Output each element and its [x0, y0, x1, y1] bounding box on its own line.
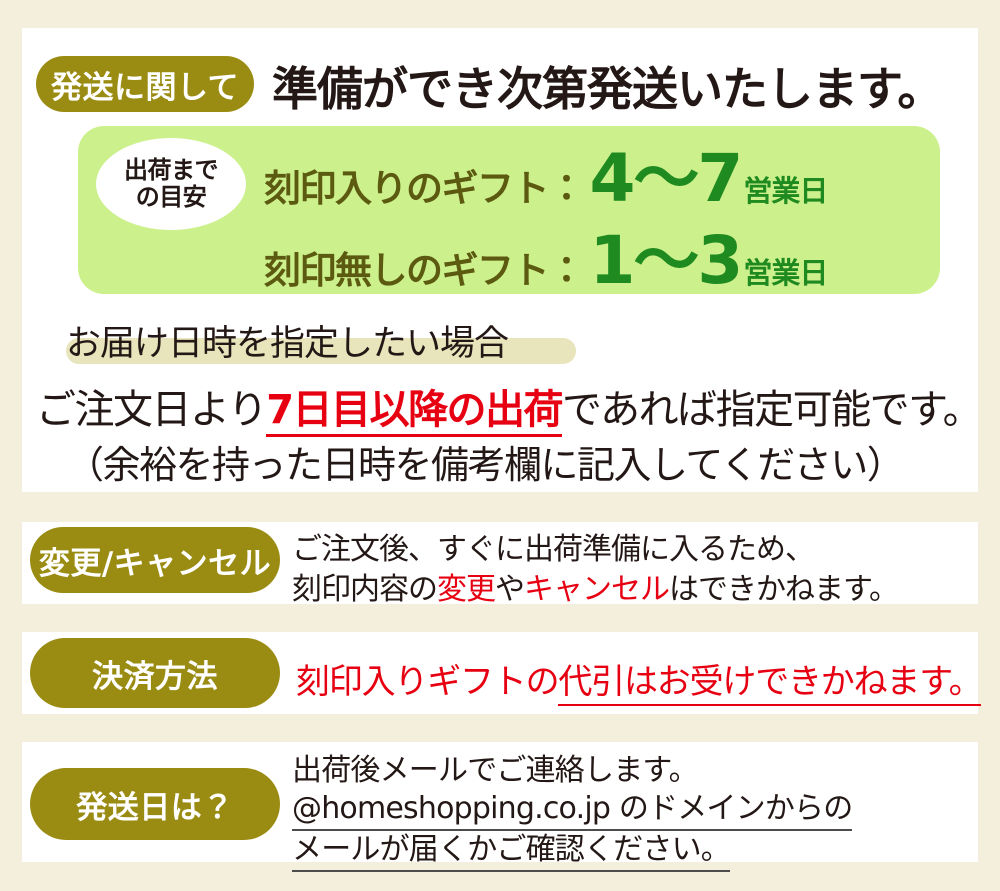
delivery-note-after: であれば指定可能です。: [562, 387, 981, 433]
estimate-label-engraved: 刻印入りのギフト：: [264, 158, 584, 212]
payment-text-underlined: 代引はお受けできかねます。: [558, 662, 981, 706]
badge-payment-method: 決済方法: [30, 638, 280, 708]
change-cancel-word-cancel: キャンセル: [524, 572, 669, 607]
ship-date-line2: @homeshopping.co.jp のドメインからの: [292, 790, 852, 831]
estimate-days-engraved: 4〜7: [590, 146, 742, 212]
shipping-info-graphic: 発送に関して 準備ができ次第発送いたします。 出荷まで の目安 刻印入りのギフト…: [0, 0, 1000, 891]
headline-shipping: 準備ができ次第発送いたします。: [272, 53, 942, 119]
change-cancel-line2-part1: 刻印内容の: [292, 572, 437, 607]
change-cancel-word-change: 変更: [437, 572, 495, 607]
badge-shipping-about: 発送に関して: [36, 56, 254, 112]
ship-date-line1: 出荷後メールでご連絡します。: [292, 752, 852, 790]
estimate-unit-plain: 営業日: [743, 250, 827, 292]
delivery-note-highlight: 7日目以降の出荷: [266, 387, 562, 437]
estimate-oval-badge: 出荷まで の目安: [96, 138, 246, 230]
estimate-oval-line2: の目安: [136, 184, 207, 211]
ship-date-line3-wrap: メールが届くかご確認ください。: [292, 831, 852, 872]
change-cancel-text: ご注文後、すぐに出荷準備に入るため、 刻印内容の変更やキャンセルはできかねます。: [292, 530, 898, 610]
ship-date-line2-wrap: @homeshopping.co.jp のドメインからの: [292, 790, 852, 831]
estimate-unit-engraved: 営業日: [743, 168, 827, 210]
delivery-note-line1: ご注文日より7日目以降の出荷であれば指定可能です。: [36, 377, 981, 435]
change-cancel-line2: 刻印内容の変更やキャンセルはできかねます。: [292, 570, 898, 610]
payment-method-text: 刻印入りギフトの代引はお受けできかねます。: [296, 654, 981, 703]
delivery-heading-text: お届け日時を指定したい場合: [66, 315, 508, 366]
change-cancel-line2-part2: や: [495, 572, 524, 607]
delivery-note-before: ご注文日より: [36, 387, 266, 433]
estimate-row-plain: 刻印無しのギフト： 1〜3 営業日: [264, 228, 827, 294]
estimate-row-engraved: 刻印入りのギフト： 4〜7 営業日: [264, 146, 827, 212]
badge-ship-date: 発送日は？: [30, 768, 280, 840]
badge-change-cancel: 変更/キャンセル: [30, 527, 280, 593]
estimate-days-plain: 1〜3: [590, 228, 742, 294]
ship-date-text: 出荷後メールでご連絡します。 @homeshopping.co.jp のドメイン…: [292, 752, 852, 872]
delivery-note-line2: （余裕を持った日時を備考欄に記入してください）: [66, 434, 903, 489]
estimate-label-plain: 刻印無しのギフト：: [264, 240, 584, 294]
payment-text-before: 刻印入りギフトの: [296, 662, 558, 702]
delivery-heading-group: お届け日時を指定したい場合: [66, 318, 508, 362]
estimate-oval-line1: 出荷まで: [124, 157, 218, 184]
change-cancel-line1: ご注文後、すぐに出荷準備に入るため、: [292, 530, 898, 570]
ship-date-line3: メールが届くかご確認ください。: [292, 831, 730, 872]
change-cancel-line2-part3: はできかねます。: [669, 572, 898, 607]
